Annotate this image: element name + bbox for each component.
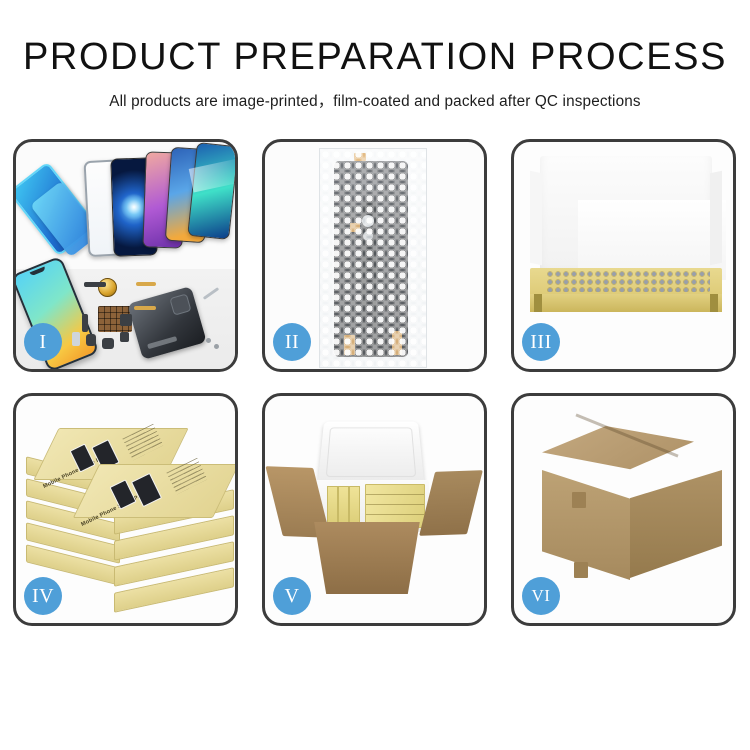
screw-part [214,344,219,349]
package-seam [366,504,424,505]
foam-lid [540,156,712,278]
small-part [84,282,106,287]
small-part [102,338,114,349]
page-header: PRODUCT PREPARATION PROCESS All products… [0,0,750,111]
bubble-wrap-filling [546,270,710,292]
process-step-3[interactable]: III [511,139,736,372]
page-title: PRODUCT PREPARATION PROCESS [0,0,750,78]
yellow-package [338,486,349,526]
small-part [120,314,132,326]
foam-box-lid [318,421,425,484]
small-part [120,332,129,342]
process-step-2[interactable]: II [262,139,487,372]
bubble-texture-2 [320,149,426,367]
process-step-grid: I II [13,139,737,679]
process-step-1[interactable]: I [13,139,238,372]
flex-cable-part [136,282,156,286]
page-subtitle: All products are image-printed，film-coat… [0,78,750,111]
carton-tape-tab [572,492,586,508]
small-part [82,314,88,332]
yellow-package [349,486,360,526]
box-notch-left [534,294,542,312]
step-badge-6: VI [522,577,560,615]
carton-top-face [542,426,694,486]
carton-side-face [630,470,722,578]
yellow-box-base [530,268,722,312]
process-step-6[interactable]: VI [511,393,736,626]
carton-body [307,522,427,594]
step-badge-2: II [273,323,311,361]
yellow-package [327,486,338,526]
carton-flap-right [419,470,483,536]
flex-cable-part [134,306,156,310]
package-seam [366,494,424,495]
step-badge-4: IV [24,577,62,615]
product-preparation-process-page: PRODUCT PREPARATION PROCESS All products… [0,0,750,750]
step-badge-5: V [273,577,311,615]
copper-coil-part [98,278,117,297]
small-part [86,334,96,346]
step-badge-1: I [24,323,62,361]
box-notch-right [710,294,718,312]
small-part [72,332,80,346]
bubble-wrap-bag [319,148,427,368]
process-step-5[interactable]: V [262,393,487,626]
process-step-4[interactable]: Mobile Phone Spare Parts Mobile Phone Sp… [13,393,238,626]
phone-notch [30,266,46,276]
box-front-panel [530,294,722,312]
carton-tape-tab [574,562,588,578]
step-badge-3: III [522,323,560,361]
yellow-package-stack [365,484,425,528]
screw-part [206,338,211,343]
package-seam [366,514,424,515]
